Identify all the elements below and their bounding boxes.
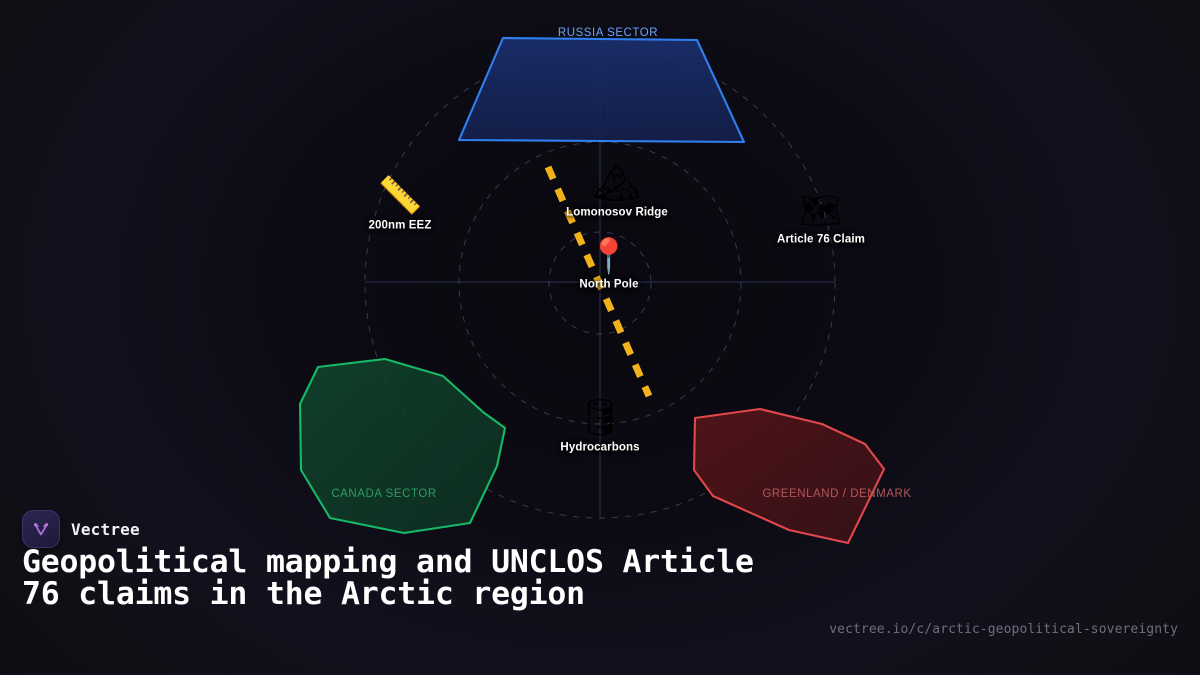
marker-article-76-claim[interactable]: 🗺 Article 76 Claim	[777, 195, 865, 246]
sector-label-greenland-denmark: GREENLAND / DENMARK	[762, 488, 911, 500]
brand-name: Vectree	[71, 520, 140, 539]
marker-label-hydrocarbons: Hydrocarbons	[560, 442, 639, 454]
oil-drum-icon: 🛢	[560, 401, 639, 437]
marker-label-lomonosov-ridge: Lomonosov Ridge	[566, 207, 668, 219]
ruler-icon: 📏	[369, 179, 432, 215]
sector-label-russia: RUSSIA SECTOR	[558, 27, 658, 39]
sector-canada[interactable]	[300, 359, 505, 533]
world-map-icon: 🗺	[777, 195, 865, 229]
arctic-map-canvas: RUSSIA SECTOR CANADA SECTOR GREENLAND / …	[0, 0, 1200, 675]
round-pushpin-icon: 📍	[579, 240, 638, 274]
marker-lomonosov-ridge[interactable]: 🏔 Lomonosov Ridge	[566, 164, 668, 219]
marker-200nm-eez[interactable]: 📏 200nm EEZ	[369, 179, 432, 232]
sector-greenland-denmark[interactable]	[694, 409, 884, 543]
marker-label-north-pole: North Pole	[579, 279, 638, 291]
vectree-v-logo-icon	[22, 510, 60, 548]
sector-polygons	[300, 38, 884, 543]
marker-hydrocarbons[interactable]: 🛢 Hydrocarbons	[560, 401, 639, 454]
page-title: Geopolitical mapping and UNCLOS Article …	[22, 546, 782, 610]
marker-label-article-76-claim: Article 76 Claim	[777, 234, 865, 246]
marker-north-pole[interactable]: 📍 North Pole	[579, 240, 638, 291]
sector-russia[interactable]	[459, 38, 744, 142]
footer-url: vectree.io/c/arctic-geopolitical-soverei…	[829, 622, 1178, 637]
snow-capped-mountain-icon: 🏔	[566, 164, 668, 202]
sector-label-canada: CANADA SECTOR	[331, 488, 436, 500]
brand-row: Vectree	[22, 510, 140, 548]
marker-label-200nm-eez: 200nm EEZ	[369, 220, 432, 232]
